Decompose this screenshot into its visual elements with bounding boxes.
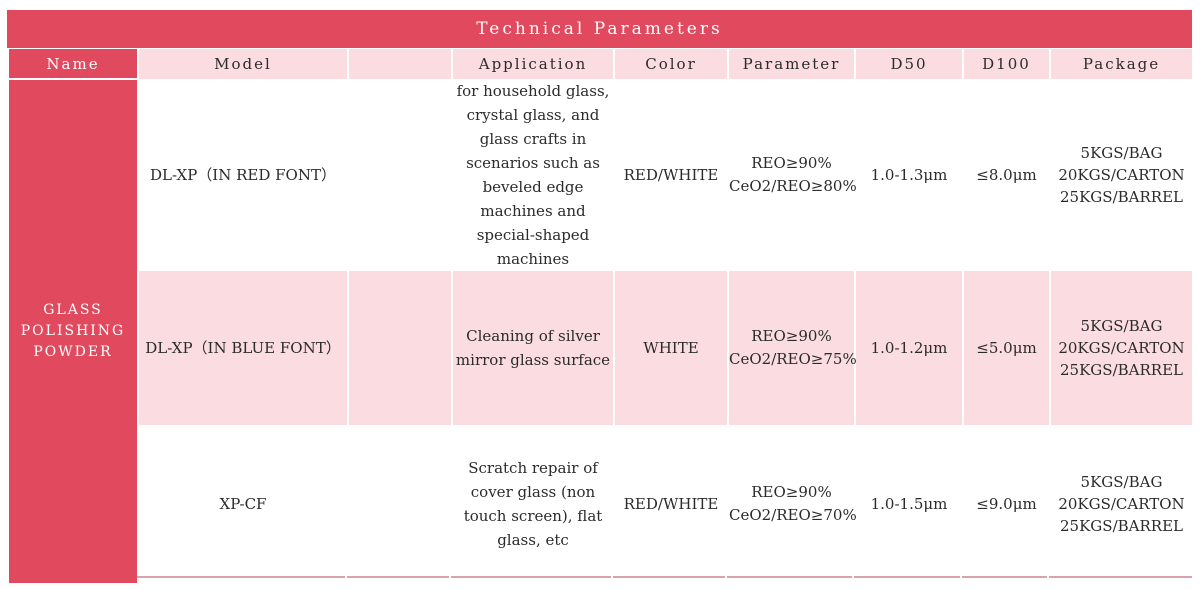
rule-tick-blank	[449, 570, 451, 578]
cell-package: 5KGS/BAG 20KGS/CARTON 25KGS/BARREL	[1050, 271, 1193, 425]
cell-d50: 1.0-1.5μm	[855, 425, 963, 583]
product-name-line-2: POLISHING	[9, 321, 137, 342]
cell-d100: ≤8.0μm	[963, 79, 1050, 271]
rule-tick-d100	[1047, 570, 1049, 578]
cell-application: Scratch repair of cover glass (non touch…	[452, 425, 614, 583]
parameter-reo: REO≥90%	[729, 325, 854, 348]
column-header-parameter: Parameter	[728, 49, 855, 79]
package-line-1: 5KGS/BAG	[1051, 471, 1192, 493]
table-row: DL-XP（IN BLUE FONT） Cleaning of silver m…	[8, 271, 1193, 425]
table-row: XP-CF Scratch repair of cover glass (non…	[8, 425, 1193, 583]
parameters-table-wrapper: Name Model Application Color Parameter D…	[7, 49, 1192, 583]
column-header-d100: D100	[963, 49, 1050, 79]
package-line-3: 25KGS/BARREL	[1051, 186, 1192, 208]
table-row: GLASS POLISHING POWDER DL-XP（IN RED FONT…	[8, 79, 1193, 271]
cell-color: WHITE	[614, 271, 728, 425]
cell-model: DL-XP（IN RED FONT）	[138, 79, 348, 271]
table-title-bar: Technical Parameters	[7, 10, 1192, 48]
package-line-3: 25KGS/BARREL	[1051, 515, 1192, 537]
cell-package: 5KGS/BAG 20KGS/CARTON 25KGS/BARREL	[1050, 425, 1193, 583]
cell-color: RED/WHITE	[614, 79, 728, 271]
column-header-blank	[348, 49, 452, 79]
cell-blank	[348, 79, 452, 271]
cell-d100: ≤9.0μm	[963, 425, 1050, 583]
rule-tick-color	[725, 570, 727, 578]
column-header-name: Name	[8, 49, 138, 79]
cell-blank	[348, 425, 452, 583]
package-line-2: 20KGS/CARTON	[1051, 337, 1192, 359]
cell-application: for household glass, crystal glass, and …	[452, 79, 614, 271]
parameter-ceo2: CeO2/REO≥75%	[729, 348, 854, 371]
cell-color: RED/WHITE	[614, 425, 728, 583]
package-line-1: 5KGS/BAG	[1051, 142, 1192, 164]
cell-application: Cleaning of silver mirror glass surface	[452, 271, 614, 425]
product-name-line-1: GLASS	[9, 300, 137, 321]
column-header-color: Color	[614, 49, 728, 79]
cell-blank	[348, 271, 452, 425]
column-header-application: Application	[452, 49, 614, 79]
page-title: Technical Parameters	[476, 19, 722, 39]
cell-parameter: REO≥90% CeO2/REO≥80%	[728, 79, 855, 271]
parameter-reo: REO≥90%	[729, 152, 854, 175]
parameters-table: Name Model Application Color Parameter D…	[7, 49, 1194, 583]
technical-parameters-page: Technical Parameters Name Model App	[0, 0, 1200, 589]
cell-d50: 1.0-1.2μm	[855, 271, 963, 425]
cell-parameter: REO≥90% CeO2/REO≥75%	[728, 271, 855, 425]
package-line-2: 20KGS/CARTON	[1051, 164, 1192, 186]
column-header-model: Model	[138, 49, 348, 79]
column-header-d50: D50	[855, 49, 963, 79]
rule-tick-model	[345, 570, 347, 578]
package-line-1: 5KGS/BAG	[1051, 315, 1192, 337]
cell-parameter: REO≥90% CeO2/REO≥70%	[728, 425, 855, 583]
rule-tick-parameter	[852, 570, 854, 578]
package-line-3: 25KGS/BARREL	[1051, 359, 1192, 381]
cell-d100: ≤5.0μm	[963, 271, 1050, 425]
table-bottom-rule	[137, 576, 1192, 578]
rule-tick-d50	[960, 570, 962, 578]
parameter-ceo2: CeO2/REO≥70%	[729, 504, 854, 527]
cell-package: 5KGS/BAG 20KGS/CARTON 25KGS/BARREL	[1050, 79, 1193, 271]
product-name-cell: GLASS POLISHING POWDER	[8, 79, 138, 583]
cell-model: XP-CF	[138, 425, 348, 583]
cell-d50: 1.0-1.3μm	[855, 79, 963, 271]
parameter-ceo2: CeO2/REO≥80%	[729, 175, 854, 198]
rule-tick-application	[611, 570, 613, 578]
table-header-row: Name Model Application Color Parameter D…	[8, 49, 1193, 79]
package-line-2: 20KGS/CARTON	[1051, 493, 1192, 515]
product-name-line-3: POWDER	[9, 342, 137, 363]
cell-model: DL-XP（IN BLUE FONT）	[138, 271, 348, 425]
column-header-package: Package	[1050, 49, 1193, 79]
parameter-reo: REO≥90%	[729, 481, 854, 504]
